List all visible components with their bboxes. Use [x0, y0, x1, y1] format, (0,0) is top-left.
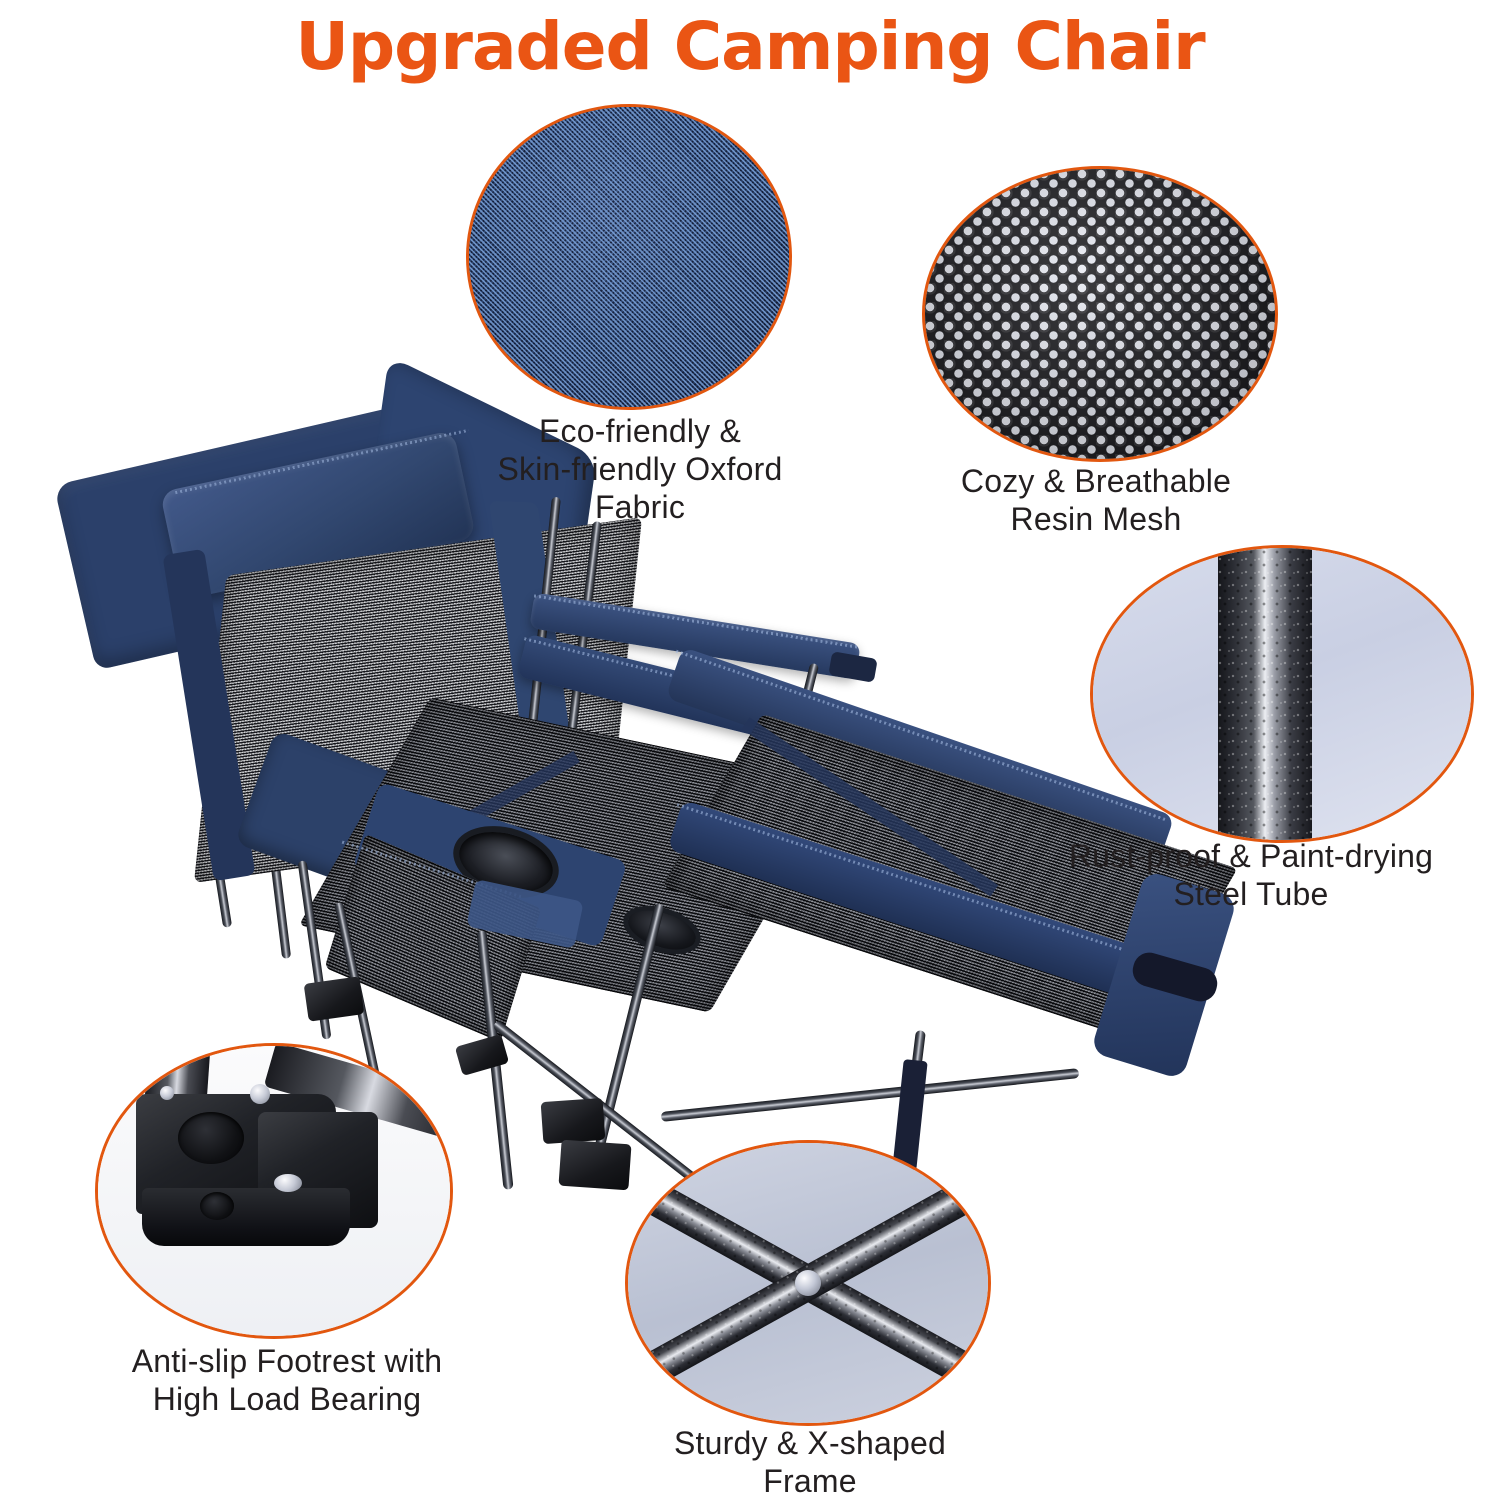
steel-tube-closeup [1218, 545, 1313, 843]
joint-side-rivet [160, 1086, 174, 1100]
resin-mesh-texture [925, 169, 1275, 459]
joint-screw [274, 1174, 302, 1192]
callout-x-frame [625, 1140, 985, 1420]
steel-tube-swatch [1090, 545, 1474, 843]
footrest-joint-swatch [95, 1043, 453, 1339]
oxford-fabric-swatch [466, 104, 792, 410]
callout-steel-tube [1090, 545, 1468, 837]
joint-base-plate [142, 1188, 350, 1246]
callout-resin-mesh-caption: Cozy & Breathable Resin Mesh [886, 463, 1306, 539]
x-frame-rivet [795, 1270, 821, 1296]
callout-oxford-fabric-caption: Eco-friendly & Skin-friendly Oxford Fabr… [440, 413, 840, 526]
callout-footrest-joint [95, 1043, 447, 1333]
leg-rear-rail [661, 1068, 1080, 1122]
anti-slip-foot-center [541, 1098, 606, 1144]
joint-small-hole [200, 1192, 234, 1220]
x-frame-swatch [625, 1140, 991, 1426]
resin-mesh-swatch [922, 166, 1278, 462]
joint-tube-socket [178, 1112, 244, 1164]
joint-pivot-bolt [250, 1084, 270, 1104]
oxford-weave-texture [469, 107, 789, 407]
page-title: Upgraded Camping Chair [0, 12, 1500, 81]
callout-footrest-joint-caption: Anti-slip Footrest with High Load Bearin… [52, 1343, 522, 1419]
anti-slip-foot-rear [558, 1140, 631, 1191]
infographic-canvas: Upgraded Camping Chair [0, 0, 1500, 1500]
callout-oxford-fabric [466, 104, 786, 404]
callout-x-frame-caption: Sturdy & X-shaped Frame [600, 1425, 1020, 1501]
armrest-upper-tip [828, 651, 877, 683]
callout-resin-mesh [922, 166, 1272, 456]
anti-slip-foot-left [304, 976, 365, 1021]
callout-steel-tube-caption: Rust-proof & Paint-drying Steel Tube [1002, 838, 1500, 914]
